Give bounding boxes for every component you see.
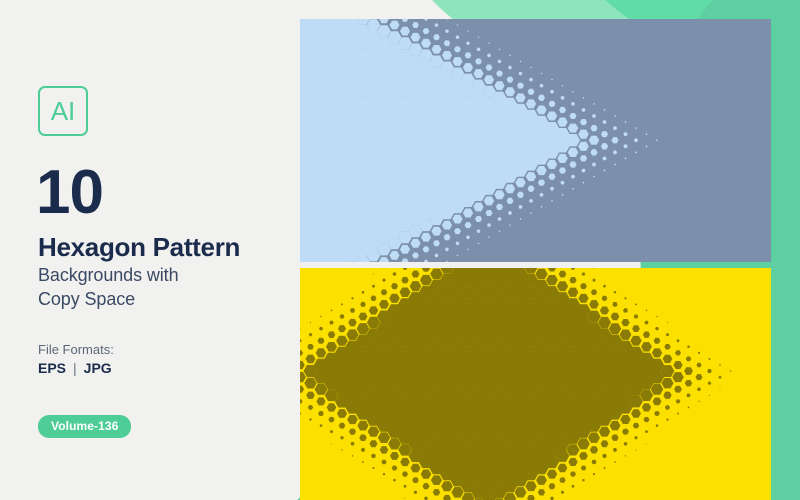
page-subtitle: Backgrounds with Copy Space xyxy=(38,264,178,312)
file-formats-separator: | xyxy=(73,361,77,375)
file-format-eps: EPS xyxy=(38,361,66,375)
yellow-hexagon-preview xyxy=(300,268,771,500)
volume-badge: Volume-136 xyxy=(38,415,131,438)
blue-hexagon-preview xyxy=(300,19,771,262)
file-formats-values: EPS | JPG xyxy=(38,361,112,375)
file-format-jpg: JPG xyxy=(84,361,112,375)
item-count: 10 xyxy=(36,162,103,224)
page-subtitle-line-1: Backgrounds with xyxy=(38,264,178,288)
page-subtitle-line-2: Copy Space xyxy=(38,288,178,312)
ai-format-badge-label: AI xyxy=(51,98,76,124)
file-formats-label: File Formats: xyxy=(38,343,114,356)
ai-format-badge: AI xyxy=(38,86,88,136)
yellow-hexagon-pattern xyxy=(300,268,771,500)
page-title: Hexagon Pattern xyxy=(38,234,240,260)
product-card-canvas: AI 10 Hexagon Pattern Backgrounds with C… xyxy=(0,0,800,500)
info-column: AI 10 Hexagon Pattern Backgrounds with C… xyxy=(0,0,300,500)
blue-hexagon-pattern xyxy=(300,19,771,262)
